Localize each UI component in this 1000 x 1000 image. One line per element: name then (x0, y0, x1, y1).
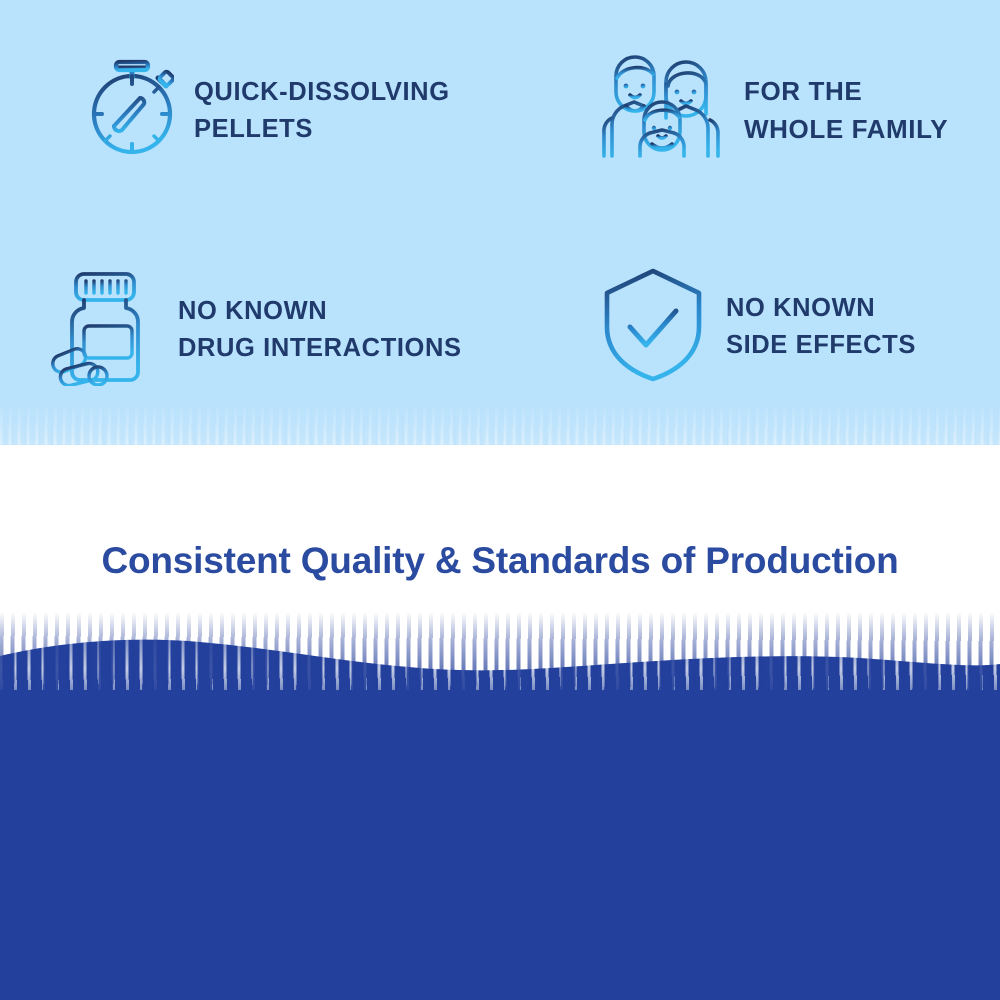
feature-side-effects: NO KNOWN SIDE EFFECTS (600, 265, 916, 388)
shield-check-icon (600, 265, 706, 388)
features-panel: QUICK-DISSOLVING PELLETS (0, 0, 1000, 445)
feature-drug-interactions: NO KNOWN DRUG INTERACTIONS (48, 268, 462, 391)
product-infographic: QUICK-DISSOLVING PELLETS (0, 0, 1000, 1000)
feature-label: NO KNOWN SIDE EFFECTS (726, 290, 916, 363)
stopwatch-icon (66, 52, 174, 169)
feature-label: NO KNOWN DRUG INTERACTIONS (178, 293, 462, 366)
page-headline: Consistent Quality & Standards of Produc… (0, 540, 1000, 582)
feature-label: QUICK-DISSOLVING PELLETS (194, 74, 450, 147)
family-icon (600, 52, 724, 169)
feature-label: FOR THE WHOLE FAMILY (744, 73, 948, 148)
feature-whole-family: FOR THE WHOLE FAMILY (600, 52, 948, 169)
pill-bottle-icon (48, 268, 158, 391)
doses-panel: 16 DOSES per tube (0, 690, 1000, 1000)
feature-quick-dissolving: QUICK-DISSOLVING PELLETS (66, 52, 450, 169)
